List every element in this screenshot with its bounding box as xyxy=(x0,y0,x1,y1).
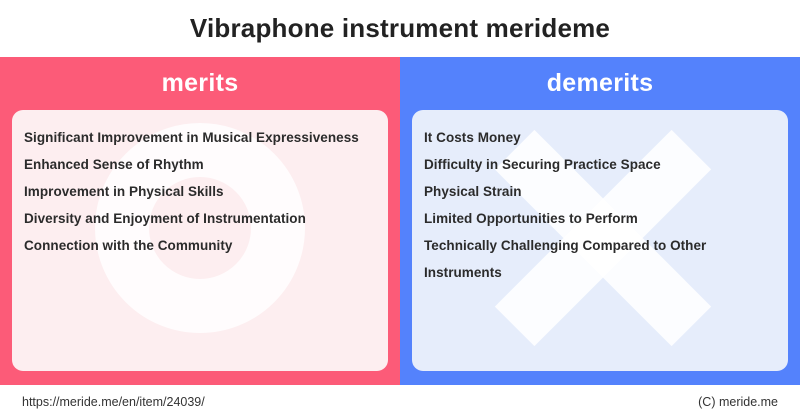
demerits-panel: demerits It Costs Money Difficulty in Se… xyxy=(400,57,800,385)
list-item: Difficulty in Securing Practice Space xyxy=(424,151,776,178)
list-item: Technically Challenging Compared to Othe… xyxy=(424,232,776,286)
merits-list: Significant Improvement in Musical Expre… xyxy=(12,110,388,259)
list-item: Improvement in Physical Skills xyxy=(24,178,376,205)
list-item: Significant Improvement in Musical Expre… xyxy=(24,124,376,151)
list-item: Limited Opportunities to Perform xyxy=(424,205,776,232)
comparison-infographic: Vibraphone instrument merideme merits Si… xyxy=(0,0,800,418)
panels-container: merits Significant Improvement in Musica… xyxy=(0,57,800,385)
demerits-heading: demerits xyxy=(400,57,800,110)
merits-heading: merits xyxy=(0,57,400,110)
copyright-notice: (C) meride.me xyxy=(698,395,778,409)
merits-panel: merits Significant Improvement in Musica… xyxy=(0,57,400,385)
demerits-card: It Costs Money Difficulty in Securing Pr… xyxy=(412,110,788,371)
demerits-list: It Costs Money Difficulty in Securing Pr… xyxy=(412,110,788,286)
list-item: Diversity and Enjoyment of Instrumentati… xyxy=(24,205,376,232)
list-item: It Costs Money xyxy=(424,124,776,151)
source-url[interactable]: https://meride.me/en/item/24039/ xyxy=(22,395,205,409)
list-item: Enhanced Sense of Rhythm xyxy=(24,151,376,178)
title-bar: Vibraphone instrument merideme xyxy=(0,0,800,57)
footer: https://meride.me/en/item/24039/ (C) mer… xyxy=(0,385,800,418)
list-item: Connection with the Community xyxy=(24,232,376,259)
page-title: Vibraphone instrument merideme xyxy=(190,13,610,44)
list-item: Physical Strain xyxy=(424,178,776,205)
merits-card: Significant Improvement in Musical Expre… xyxy=(12,110,388,371)
